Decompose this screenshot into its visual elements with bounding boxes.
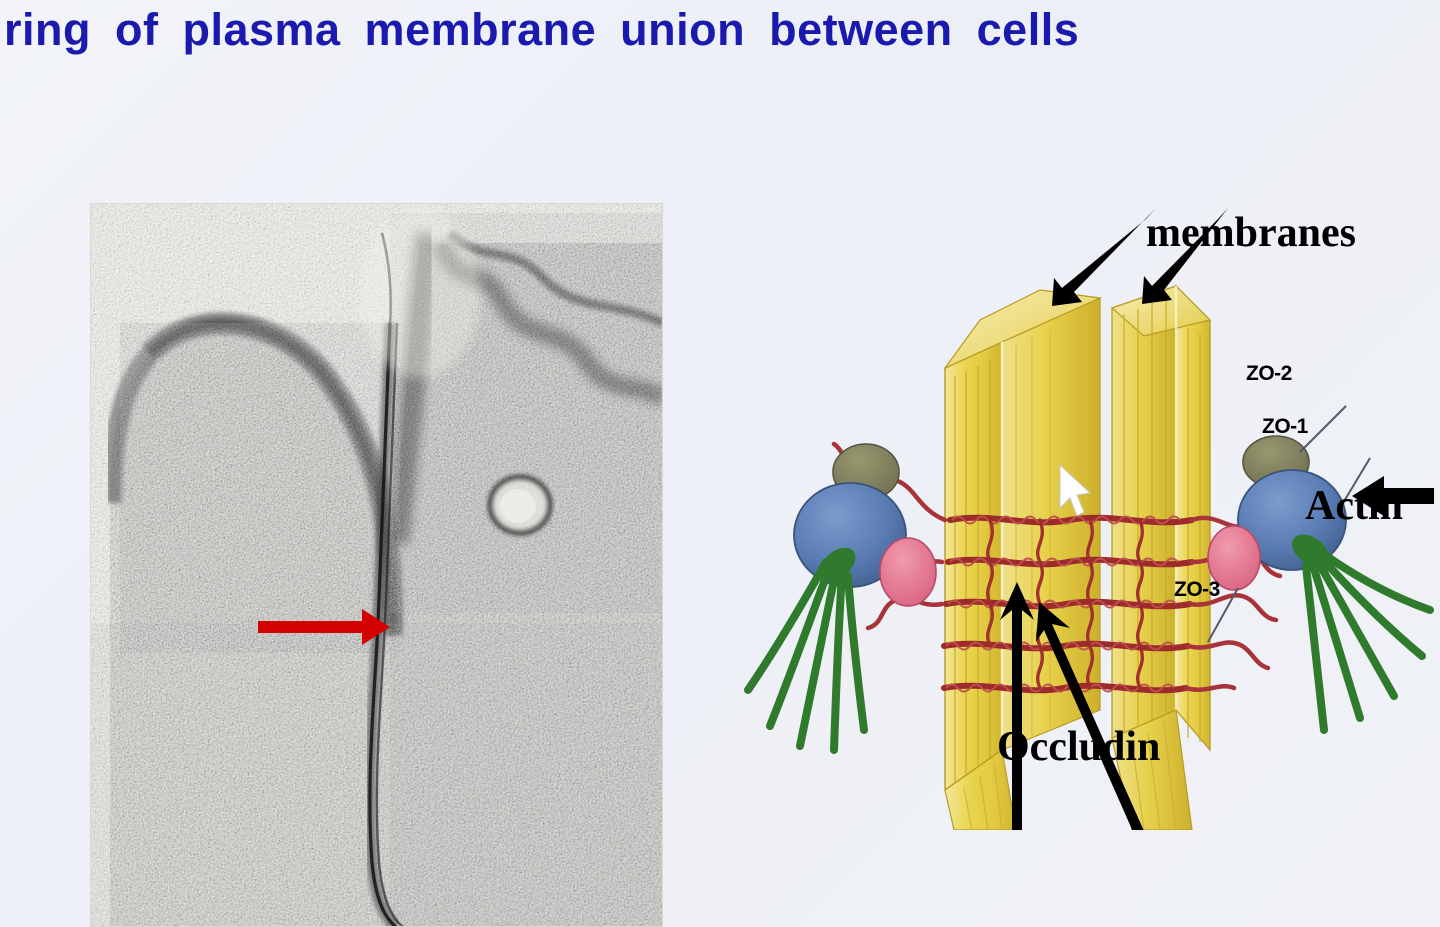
label-zo3: ZO-3 (1174, 578, 1220, 602)
electron-micrograph (90, 203, 663, 927)
label-actin: Actin (1305, 482, 1403, 530)
slide-canvas: ring of plasma membrane union between ce… (0, 0, 1440, 927)
page-title: ring of plasma membrane union between ce… (4, 2, 1434, 60)
actin-filaments-left (748, 562, 864, 750)
zo3-blob-left (880, 538, 936, 606)
label-occludin: Occludin (997, 723, 1160, 771)
membrane-left (945, 290, 1100, 790)
label-zo1: ZO-1 (1262, 415, 1308, 439)
actin-filaments-right (1306, 550, 1430, 730)
zo-complex-right (1208, 436, 1430, 730)
label-membranes: membranes (1146, 209, 1356, 257)
label-zo2: ZO-2 (1246, 362, 1292, 386)
